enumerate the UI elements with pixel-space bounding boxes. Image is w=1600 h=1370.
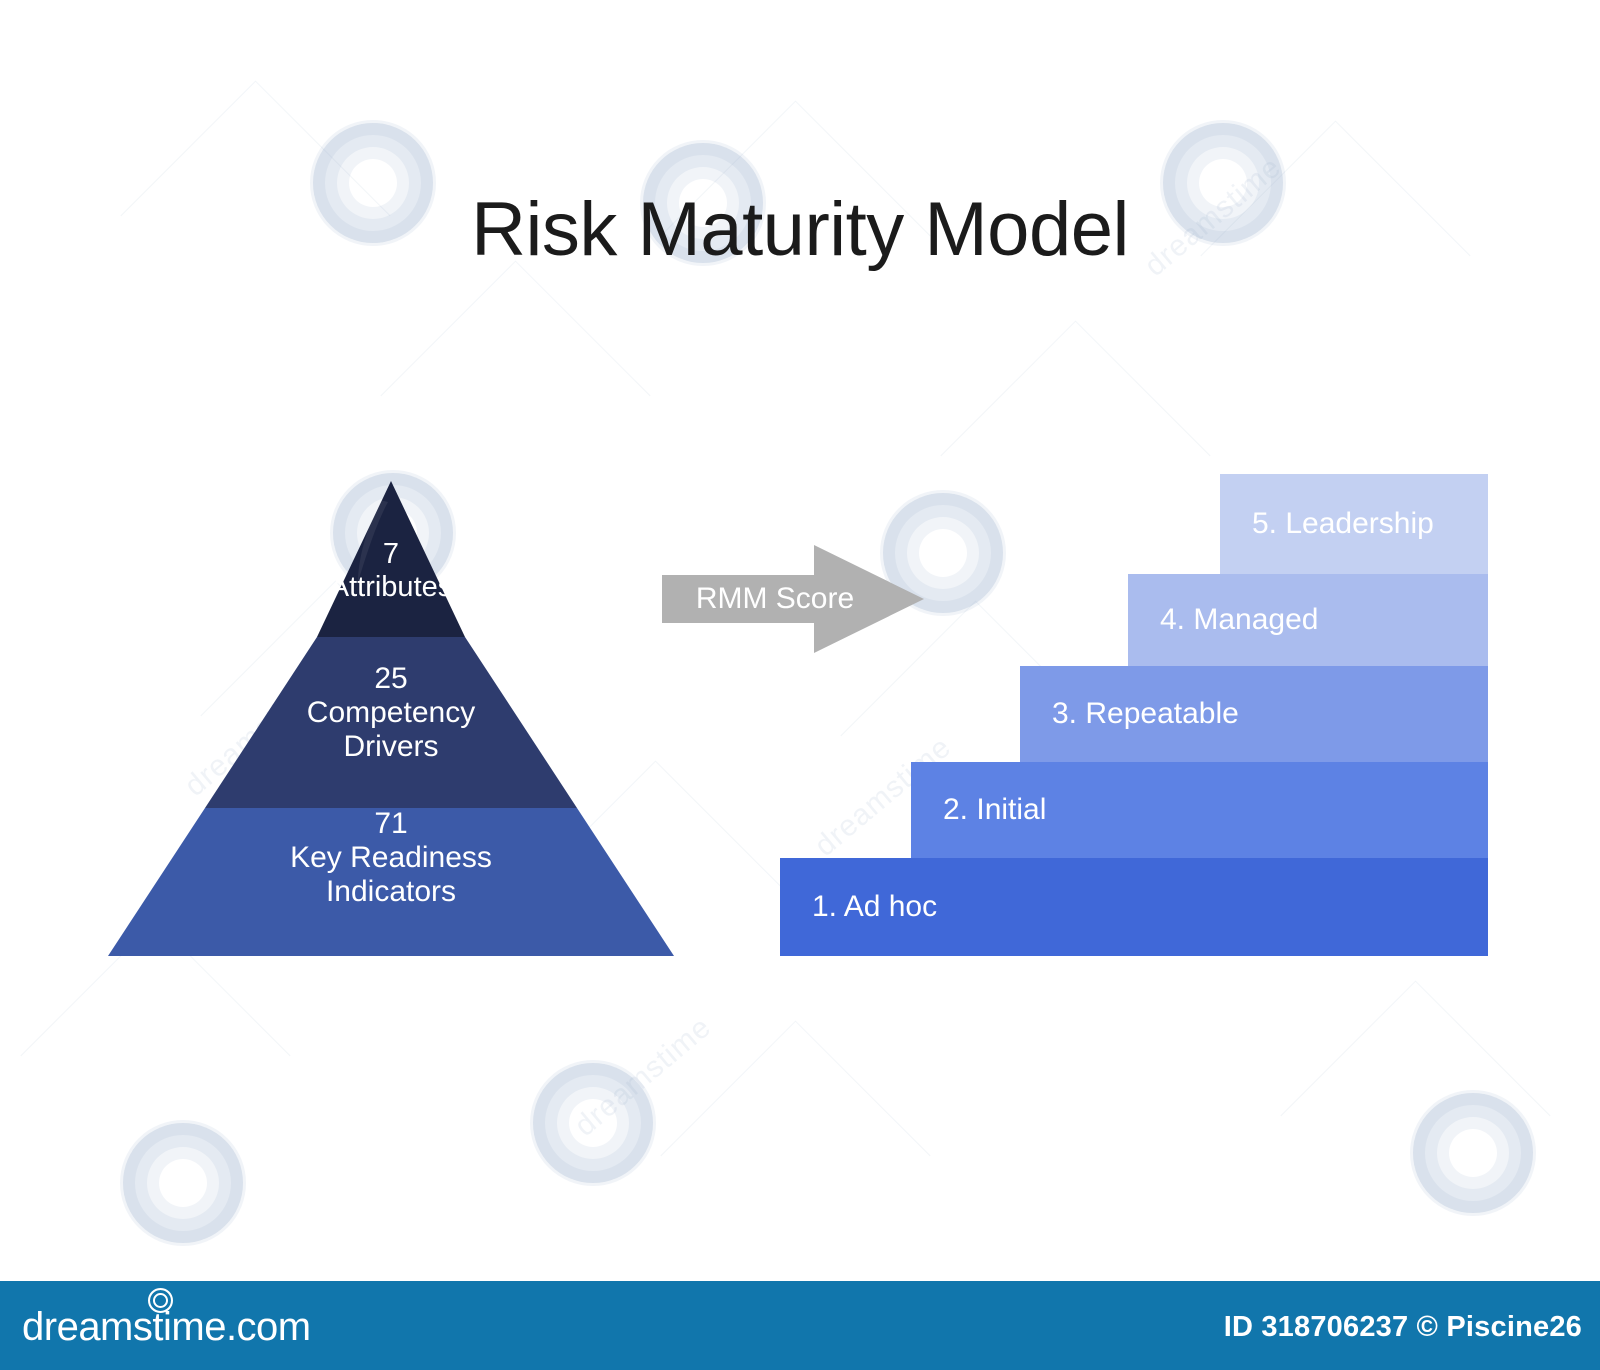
diagram-canvas: dreamstime dreamstime dreamstime dreamst… <box>0 0 1600 1370</box>
staircase-step-5-label: 5. Leadership <box>1220 507 1434 541</box>
pyramid-tier-2-shape[interactable] <box>205 637 577 808</box>
staircase-step-1-label: 1. Ad hoc <box>780 890 937 924</box>
image-id-credit: ID 318706237 © Piscine26 <box>1224 1311 1582 1344</box>
spiral-logo-icon <box>148 1288 173 1313</box>
maturity-staircase: 5. Leadership 4. Managed 3. Repeatable 2… <box>780 474 1488 956</box>
page-title: Risk Maturity Model <box>0 186 1600 273</box>
pyramid-tier-3-shape[interactable] <box>108 808 674 956</box>
pyramid-tier-1-shape[interactable] <box>317 481 465 637</box>
risk-maturity-pyramid: 7 Attributes 25 Competency Drivers 71 Ke… <box>108 478 674 956</box>
staircase-step-4[interactable]: 4. Managed <box>1128 574 1488 666</box>
staircase-step-3-label: 3. Repeatable <box>1020 697 1239 731</box>
staircase-step-3[interactable]: 3. Repeatable <box>1020 666 1488 762</box>
staircase-step-2-label: 2. Initial <box>911 793 1046 827</box>
staircase-step-1[interactable]: 1. Ad hoc <box>780 858 1488 956</box>
pyramid-shape <box>108 478 674 956</box>
dreamstime-logo[interactable]: dreamstime.com <box>22 1305 311 1350</box>
watermark-footer-bar: dreamstime.com ID 318706237 © Piscine26 <box>0 1281 1600 1370</box>
staircase-step-2[interactable]: 2. Initial <box>911 762 1488 858</box>
staircase-step-4-label: 4. Managed <box>1128 603 1318 637</box>
staircase-step-5[interactable]: 5. Leadership <box>1220 474 1488 574</box>
